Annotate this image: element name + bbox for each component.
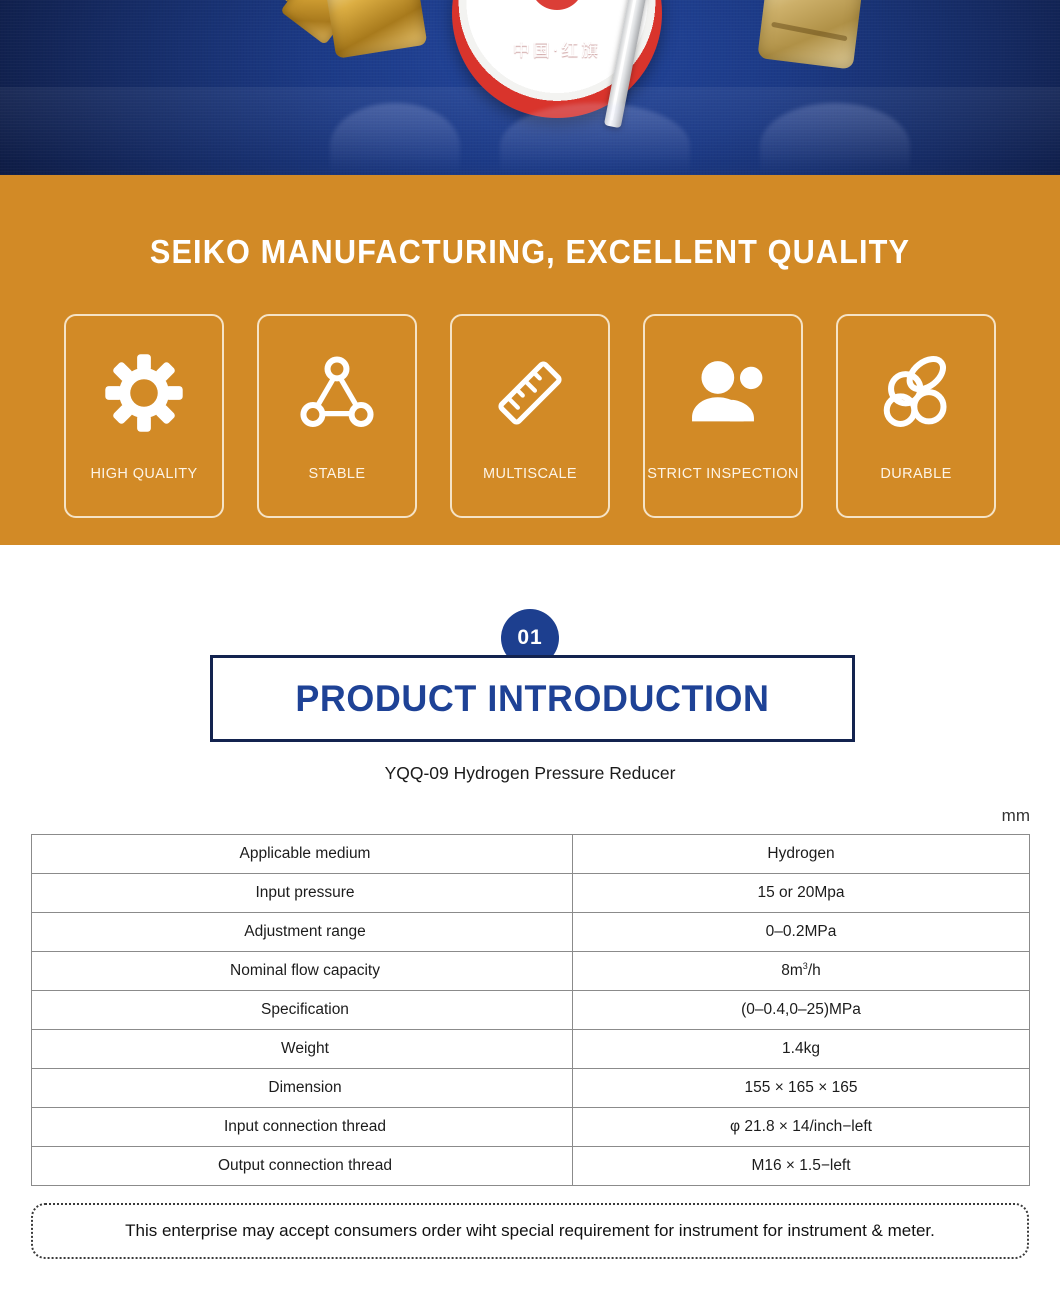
- table-row: Applicable mediumHydrogen: [32, 835, 1030, 874]
- spec-key: Adjustment range: [32, 913, 573, 952]
- feature-card-multiscale[interactable]: MULTISCALE: [450, 314, 610, 518]
- section-title-box: PRODUCT INTRODUCTION: [210, 655, 855, 742]
- spec-value: 1.4kg: [573, 1030, 1030, 1069]
- features-band: SEIKO MANUFACTURING, EXCELLENT QUALITY: [0, 175, 1060, 545]
- table-row: Adjustment range0–0.2MPa: [32, 913, 1030, 952]
- spec-value: φ 21.8 × 14/inch−left: [573, 1108, 1030, 1147]
- spec-table-body: Applicable mediumHydrogenInput pressure1…: [32, 835, 1030, 1186]
- spec-key: Applicable medium: [32, 835, 573, 874]
- spec-key: Output connection thread: [32, 1147, 573, 1186]
- feature-label: DURABLE: [880, 466, 951, 482]
- spec-value: (0–0.4,0–25)MPa: [573, 991, 1030, 1030]
- people-icon: [680, 350, 766, 436]
- table-row: Specification(0–0.4,0–25)MPa: [32, 991, 1030, 1030]
- gauge-center-logo: [530, 0, 584, 10]
- table-row: Dimension155 × 165 × 165: [32, 1069, 1030, 1108]
- spec-key: Input pressure: [32, 874, 573, 913]
- section-heading: 01 PRODUCT INTRODUCTION: [0, 609, 1060, 749]
- feature-card-high-quality[interactable]: HIGH QUALITY: [64, 314, 224, 518]
- feature-label: STABLE: [309, 466, 366, 482]
- hero-banner: 中国·红旗: [0, 0, 1060, 175]
- rings-stack-icon: [873, 350, 959, 436]
- table-row: Input connection threadφ 21.8 × 14/inch−…: [32, 1108, 1030, 1147]
- measurement-unit-label: mm: [0, 806, 1060, 826]
- spec-key: Weight: [32, 1030, 573, 1069]
- feature-card-durable[interactable]: DURABLE: [836, 314, 996, 518]
- product-detail-page: 中国·红旗 SEIKO MANUFACTURING, EXCELLENT QUA…: [0, 0, 1060, 1289]
- product-name: YQQ-09 Hydrogen Pressure Reducer: [0, 763, 1060, 784]
- feature-label: MULTISCALE: [483, 466, 577, 482]
- spec-value: 15 or 20Mpa: [573, 874, 1030, 913]
- gear-icon: [101, 350, 187, 436]
- spec-key: Specification: [32, 991, 573, 1030]
- spec-value: 0–0.2MPa: [573, 913, 1030, 952]
- specification-table: Applicable mediumHydrogenInput pressure1…: [31, 834, 1030, 1186]
- feature-card-stable[interactable]: STABLE: [257, 314, 417, 518]
- spec-value: 155 × 165 × 165: [573, 1069, 1030, 1108]
- table-row: Output connection threadM16 × 1.5−left: [32, 1147, 1030, 1186]
- features-headline: SEIKO MANUFACTURING, EXCELLENT QUALITY: [37, 205, 1023, 271]
- brass-nut-right: [757, 0, 863, 70]
- spec-value: M16 × 1.5−left: [573, 1147, 1030, 1186]
- spec-key: Input connection thread: [32, 1108, 573, 1147]
- ruler-icon: [487, 350, 573, 436]
- feature-card-list: HIGH QUALITY STABLE: [0, 314, 1060, 518]
- feature-label: STRICT INSPECTION: [647, 466, 799, 482]
- feature-card-strict-inspection[interactable]: STRICT INSPECTION: [643, 314, 803, 518]
- spec-value: 8m3/h: [573, 952, 1030, 991]
- table-row: Input pressure15 or 20Mpa: [32, 874, 1030, 913]
- feature-label: HIGH QUALITY: [90, 466, 197, 482]
- spec-key: Nominal flow capacity: [32, 952, 573, 991]
- spec-table-wrapper: Applicable mediumHydrogenInput pressure1…: [0, 834, 1060, 1186]
- footer-note-text: This enterprise may accept consumers ord…: [125, 1221, 935, 1241]
- page-title: PRODUCT INTRODUCTION: [295, 678, 769, 720]
- triangle-nodes-icon: [294, 350, 380, 436]
- table-row: Weight1.4kg: [32, 1030, 1030, 1069]
- table-row: Nominal flow capacity8m3/h: [32, 952, 1030, 991]
- footer-note-box: This enterprise may accept consumers ord…: [31, 1203, 1029, 1259]
- spec-key: Dimension: [32, 1069, 573, 1108]
- spec-value: Hydrogen: [573, 835, 1030, 874]
